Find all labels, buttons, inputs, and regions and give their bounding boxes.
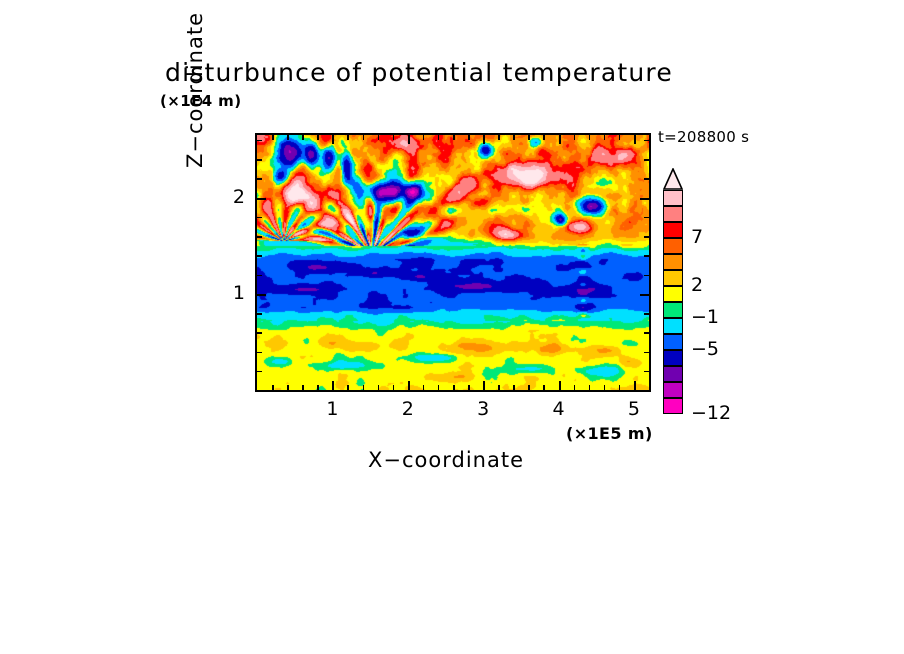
- tick-mark: [498, 135, 500, 140]
- colorbar-band: [663, 366, 683, 382]
- tick-mark: [438, 385, 440, 390]
- tick-mark: [257, 198, 266, 200]
- tick-mark: [559, 381, 561, 390]
- tick-mark: [347, 385, 349, 390]
- tick-mark: [589, 385, 591, 390]
- colorbar-band: [663, 254, 683, 270]
- tick-mark: [317, 135, 319, 140]
- tick-mark: [453, 135, 455, 140]
- tick-mark: [257, 371, 262, 373]
- tick-mark: [438, 135, 440, 140]
- colorbar-tick-label: 2: [691, 274, 703, 296]
- tick-mark: [257, 313, 262, 315]
- tick-mark: [408, 381, 410, 390]
- tick-mark: [644, 371, 649, 373]
- tick-mark: [468, 385, 470, 390]
- x-tick-label: 5: [614, 398, 654, 420]
- colorbar-tick-label: 7: [691, 226, 703, 248]
- colorbar-band: [663, 302, 683, 318]
- tick-mark: [423, 135, 425, 140]
- tick-mark: [453, 385, 455, 390]
- tick-mark: [543, 135, 545, 140]
- tick-mark: [574, 385, 576, 390]
- colorbar-arrow-cap: [663, 168, 683, 190]
- tick-mark: [287, 135, 289, 140]
- tick-mark: [468, 135, 470, 140]
- tick-mark: [559, 135, 561, 144]
- tick-mark: [317, 385, 319, 390]
- colorbar-band: [663, 382, 683, 398]
- colorbar-band: [663, 398, 683, 414]
- y-tick-label: 2: [215, 186, 245, 208]
- tick-mark: [644, 332, 649, 334]
- tick-mark: [257, 178, 262, 180]
- tick-mark: [528, 135, 530, 140]
- tick-mark: [498, 385, 500, 390]
- tick-mark: [257, 294, 266, 296]
- contour-plot-area: [255, 133, 651, 392]
- x-axis-title: X−coordinate: [368, 448, 524, 472]
- time-annotation: t=208800 s: [658, 128, 749, 146]
- x-tick-label: 4: [539, 398, 579, 420]
- tick-mark: [644, 313, 649, 315]
- tick-mark: [644, 217, 649, 219]
- tick-mark: [257, 217, 262, 219]
- tick-mark: [287, 385, 289, 390]
- colorbar-band: [663, 222, 683, 238]
- tick-mark: [257, 255, 262, 257]
- colorbar-tick-label: −12: [691, 402, 731, 424]
- tick-mark: [644, 140, 649, 142]
- tick-mark: [640, 294, 649, 296]
- tick-mark: [644, 255, 649, 257]
- colorbar-band: [663, 270, 683, 286]
- tick-mark: [393, 385, 395, 390]
- tick-mark: [644, 275, 649, 277]
- colorbar-band: [663, 238, 683, 254]
- tick-mark: [604, 135, 606, 140]
- colorbar-band: [663, 190, 683, 206]
- y-axis-title: Z−coordinate: [183, 12, 207, 168]
- temperature-disturbance-field: [257, 135, 649, 390]
- tick-mark: [332, 381, 334, 390]
- tick-mark: [619, 135, 621, 140]
- tick-mark: [640, 198, 649, 200]
- x-axis-unit-label: (×1E5 m): [566, 424, 653, 443]
- page-title: disturbunce of potential temperature: [165, 58, 765, 87]
- tick-mark: [634, 135, 636, 144]
- tick-mark: [302, 385, 304, 390]
- tick-mark: [257, 236, 262, 238]
- tick-mark: [393, 135, 395, 140]
- tick-mark: [363, 135, 365, 140]
- colorbar-band: [663, 318, 683, 334]
- tick-mark: [543, 385, 545, 390]
- tick-mark: [513, 385, 515, 390]
- colorbar-band: [663, 334, 683, 350]
- tick-mark: [589, 135, 591, 140]
- tick-mark: [257, 159, 262, 161]
- colorbar-band: [663, 206, 683, 222]
- tick-mark: [644, 159, 649, 161]
- tick-mark: [528, 385, 530, 390]
- y-tick-label: 1: [215, 282, 245, 304]
- colorbar-tick-label: −1: [691, 306, 719, 328]
- x-tick-label: 1: [312, 398, 352, 420]
- tick-mark: [363, 385, 365, 390]
- colorbar-band: [663, 286, 683, 302]
- tick-mark: [634, 381, 636, 390]
- x-tick-label: 3: [463, 398, 503, 420]
- tick-mark: [408, 135, 410, 144]
- tick-mark: [644, 178, 649, 180]
- tick-mark: [302, 135, 304, 140]
- tick-mark: [423, 385, 425, 390]
- tick-mark: [619, 385, 621, 390]
- tick-mark: [483, 135, 485, 144]
- tick-mark: [644, 236, 649, 238]
- tick-mark: [378, 385, 380, 390]
- tick-mark: [347, 135, 349, 140]
- tick-mark: [272, 135, 274, 140]
- tick-mark: [257, 332, 262, 334]
- tick-mark: [257, 140, 262, 142]
- colorbar-band: [663, 350, 683, 366]
- tick-mark: [513, 135, 515, 140]
- tick-mark: [257, 352, 262, 354]
- tick-mark: [644, 352, 649, 354]
- tick-mark: [332, 135, 334, 144]
- x-tick-label: 2: [388, 398, 428, 420]
- colorbar-tick-label: −5: [691, 338, 719, 360]
- tick-mark: [378, 135, 380, 140]
- tick-mark: [604, 385, 606, 390]
- tick-mark: [574, 135, 576, 140]
- tick-mark: [257, 275, 262, 277]
- tick-mark: [272, 385, 274, 390]
- tick-mark: [483, 381, 485, 390]
